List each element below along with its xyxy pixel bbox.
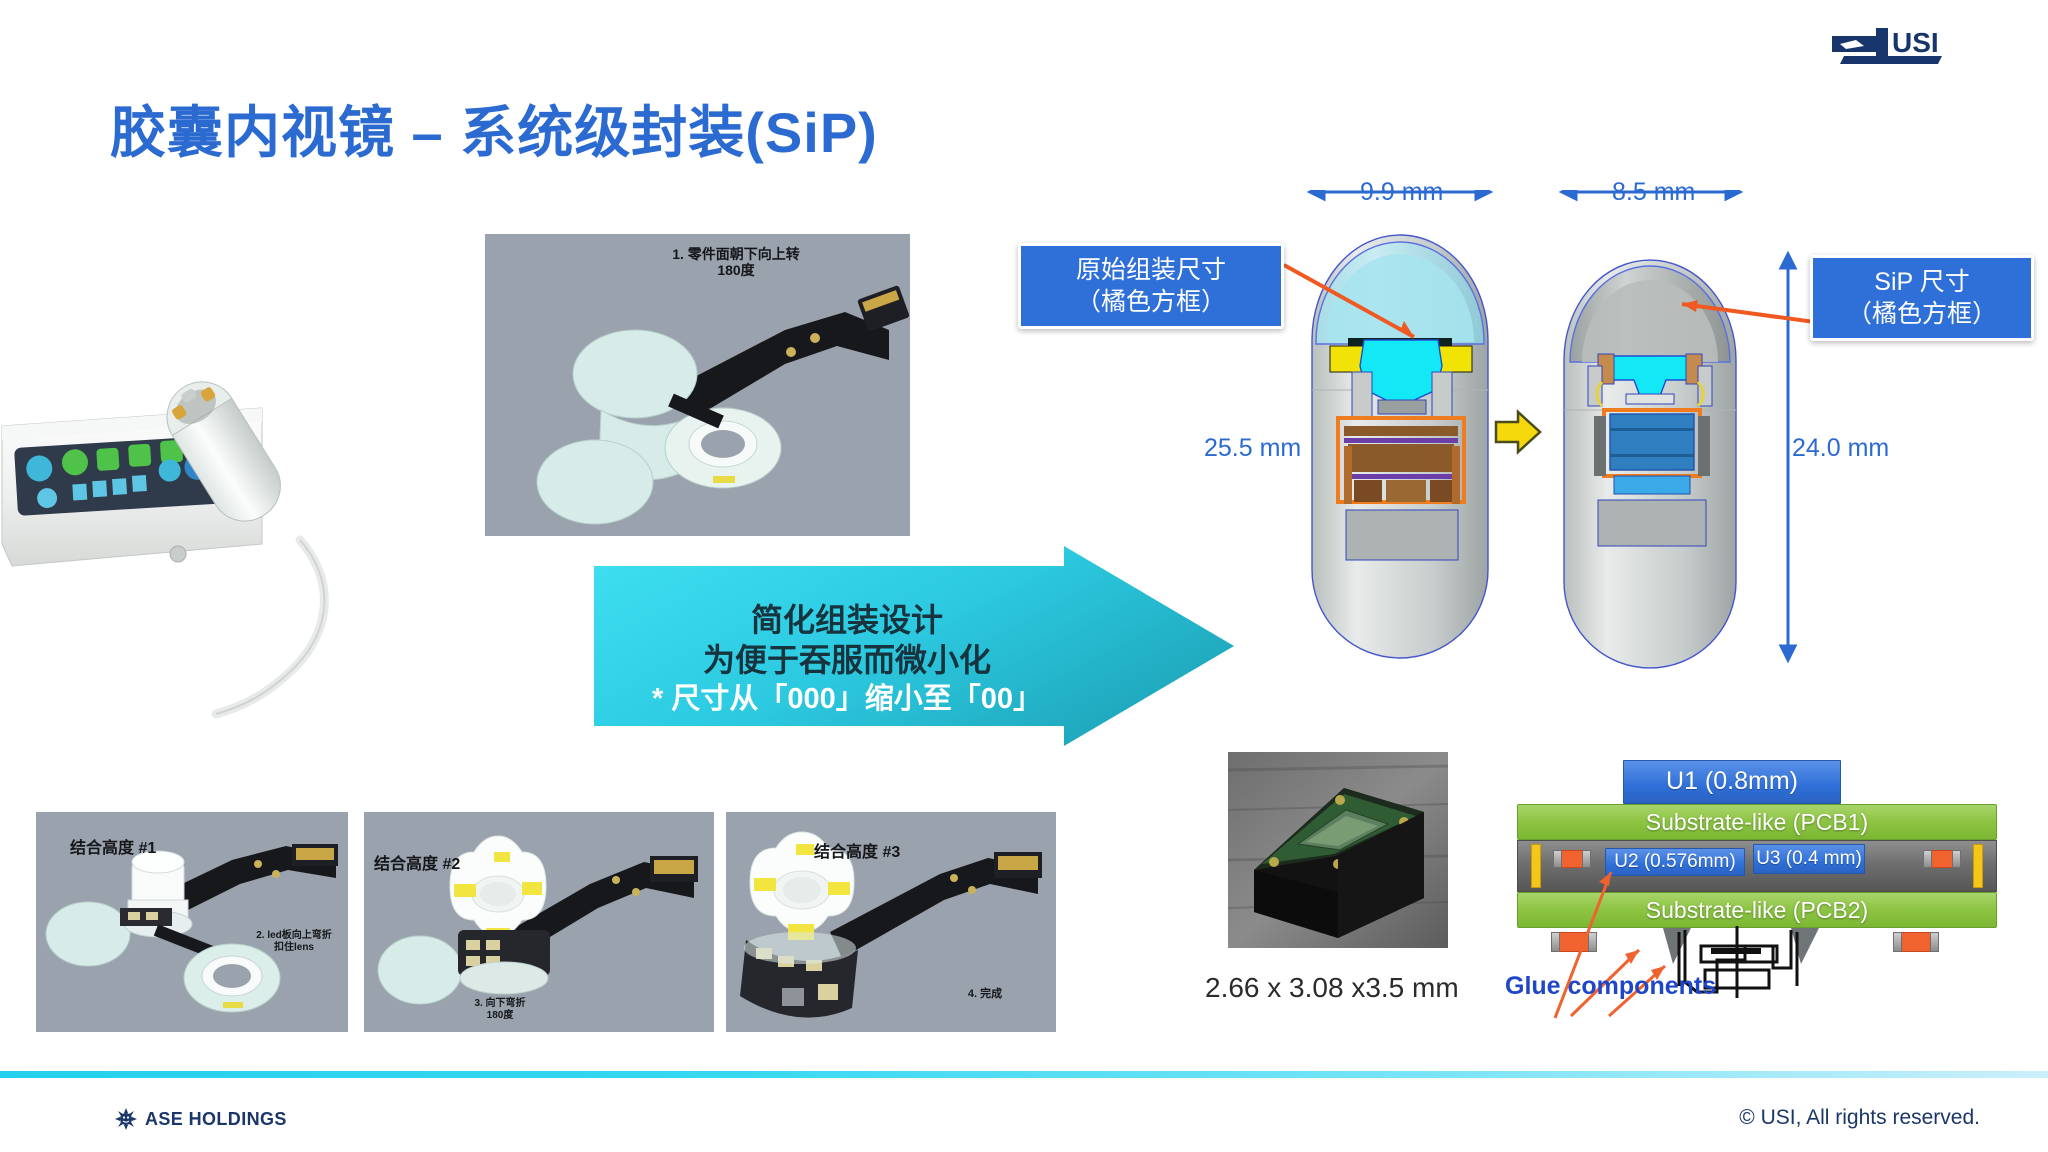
ase-holdings-label: ASE HOLDINGS	[145, 1109, 287, 1130]
stack-via-left	[1531, 844, 1541, 888]
ase-sun-icon	[115, 1108, 137, 1130]
callout-sip-line2: （橘色方框）	[1827, 298, 2017, 330]
stack-chip-u1: U1 (0.8mm)	[1623, 760, 1841, 804]
assembly-panel-2-note: 3. 向下弯折 180度	[460, 998, 540, 1021]
sip-height-label: 24.0 mm	[1792, 434, 1889, 463]
assembly-panel-1-note: 2. led板向上弯折 扣住lens	[248, 930, 340, 953]
assembly-panel-3-caption: 结合高度 #3	[814, 838, 900, 862]
original-height-label: 25.5 mm	[1204, 434, 1301, 463]
original-width-label: 9.9 mm	[1360, 178, 1443, 207]
assembly-top-note: 1. 零件面朝下向上转 180度	[641, 246, 831, 278]
slide-root: USI 胶囊内视镜 – 系统级封装(SiP)	[0, 0, 2048, 1152]
stack-pcb1: Substrate-like (PCB1)	[1517, 804, 1997, 840]
usi-logo: USI	[1830, 18, 1950, 66]
callout-sip-size: SiP 尺寸 （橘色方框）	[1810, 255, 2034, 341]
sensor-dimension-caption: 2.66 x 3.08 x3.5 mm	[1205, 972, 1459, 1004]
callout-original-line1: 原始组装尺寸	[1035, 254, 1267, 286]
simplify-line-1: 简化组装设计	[612, 600, 1082, 640]
image-sensor-photo	[1228, 752, 1448, 948]
ase-holdings-logo: ASE HOLDINGS	[115, 1108, 287, 1130]
footer-divider	[0, 1071, 2048, 1078]
assembly-panel-1-caption: 结合高度 #1	[70, 834, 156, 858]
simplify-line-3: * 尺寸从「000」缩小至「00」	[612, 681, 1082, 718]
assembly-panel-1: 结合高度 #1 2. led板向上弯折 扣住lens	[36, 812, 348, 1032]
simplify-line-2: 为便于吞服而微小化	[612, 640, 1082, 680]
capsule-endoscope-device-photo	[0, 330, 470, 730]
yellow-right-arrow-icon	[1496, 412, 1540, 452]
copyright-text: © USI, All rights reserved.	[1739, 1106, 1980, 1130]
glue-arrow-core	[1545, 860, 1665, 1030]
assembly-panel-3-note: 4. 完成	[950, 988, 1020, 1001]
simplify-design-text: 简化组装设计 为便于吞服而微小化 * 尺寸从「000」缩小至「00」	[612, 600, 1082, 717]
stack-chip-u3: U3 (0.4 mm)	[1753, 844, 1865, 874]
assembly-panel-2-caption: 结合高度 #2	[374, 850, 460, 874]
callout-original-line2: （橘色方框）	[1035, 286, 1267, 318]
stack-via-right	[1973, 844, 1983, 888]
callout-sip-line1: SiP 尺寸	[1827, 266, 2017, 298]
assembly-panel-2: 结合高度 #2 3. 向下弯折 180度	[364, 812, 714, 1032]
left-callout-leader	[1280, 255, 1460, 345]
page-title: 胶囊内视镜 – 系统级封装(SiP)	[110, 88, 878, 169]
assembly-panel-top: 1. 零件面朝下向上转 180度	[485, 234, 910, 536]
usi-logo-text: USI	[1892, 27, 1939, 58]
sip-width-label: 8.5 mm	[1612, 178, 1695, 207]
assembly-panel-3: 结合高度 #3 4. 完成	[726, 812, 1056, 1032]
stack-resistor-core-right	[1931, 850, 1953, 868]
callout-original-size: 原始组装尺寸 （橘色方框）	[1018, 243, 1284, 329]
